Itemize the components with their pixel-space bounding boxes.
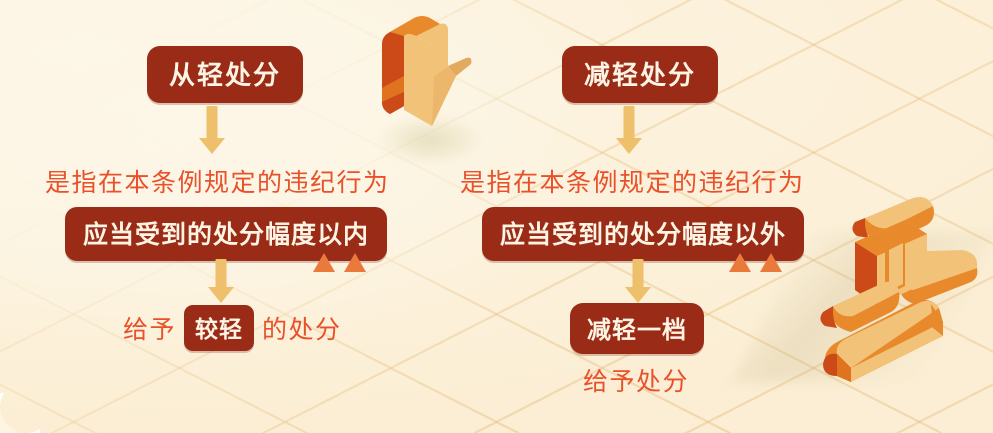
arrow-mitigated-title-to-definition xyxy=(616,106,642,154)
pill-mitigated-scope-wrap: 应当受到的处分幅度以外 xyxy=(482,207,804,261)
arrow-shaft xyxy=(216,259,227,289)
arrow-mitigated-scope-to-result xyxy=(625,259,651,303)
pill-lenient-result-badge: 较轻 xyxy=(184,305,254,351)
pill-mitigated-result-wrap: 减轻一档 xyxy=(570,303,704,354)
pill-lenient-scope-wrap: 应当受到的处分幅度以内 xyxy=(65,207,387,261)
gavel-3d-icon xyxy=(793,186,991,416)
column-lenient-title: 从轻处分 xyxy=(147,46,303,103)
canvas-corner-rounding xyxy=(0,393,40,433)
arrow-lenient-scope-to-result xyxy=(208,259,234,303)
triangle-up-icon-lenient-2 xyxy=(344,253,366,272)
pill-lenient-title: 从轻处分 xyxy=(147,46,303,103)
lenient-result-prefix: 给予 xyxy=(123,310,176,346)
text-lenient-result: 给予 较轻 的处分 xyxy=(123,305,342,351)
column-mitigated-title: 减轻处分 xyxy=(562,46,718,103)
arrow-head xyxy=(199,138,225,154)
triangle-up-icon-mitigated-2 xyxy=(760,253,782,272)
text-mitigated-result-note: 给予处分 xyxy=(583,362,689,398)
arrow-head xyxy=(208,287,234,303)
text-lenient-definition: 是指在本条例规定的违纪行为 xyxy=(45,163,390,199)
pill-mitigated-result-badge: 减轻一档 xyxy=(570,303,704,354)
arrow-shaft xyxy=(624,106,635,140)
arrow-shaft xyxy=(633,259,644,289)
arrow-head xyxy=(616,138,642,154)
lenient-result-suffix: 的处分 xyxy=(262,310,342,346)
arrow-shaft xyxy=(207,106,218,140)
pill-mitigated-title: 减轻处分 xyxy=(562,46,718,103)
pill-lenient-scope: 应当受到的处分幅度以内 xyxy=(65,207,387,261)
infographic-canvas: 从轻处分 是指在本条例规定的违纪行为 应当受到的处分幅度以内 给予 较轻 的处分 xyxy=(0,0,993,433)
triangle-up-icon-mitigated-1 xyxy=(729,253,751,272)
arrow-lenient-title-to-definition xyxy=(199,106,225,154)
triangle-up-icon-lenient-1 xyxy=(313,253,335,272)
pill-mitigated-scope: 应当受到的处分幅度以外 xyxy=(482,207,804,261)
arrow-down-3d-icon xyxy=(374,14,478,132)
text-mitigated-definition: 是指在本条例规定的违纪行为 xyxy=(460,163,805,199)
arrow-head xyxy=(625,287,651,303)
